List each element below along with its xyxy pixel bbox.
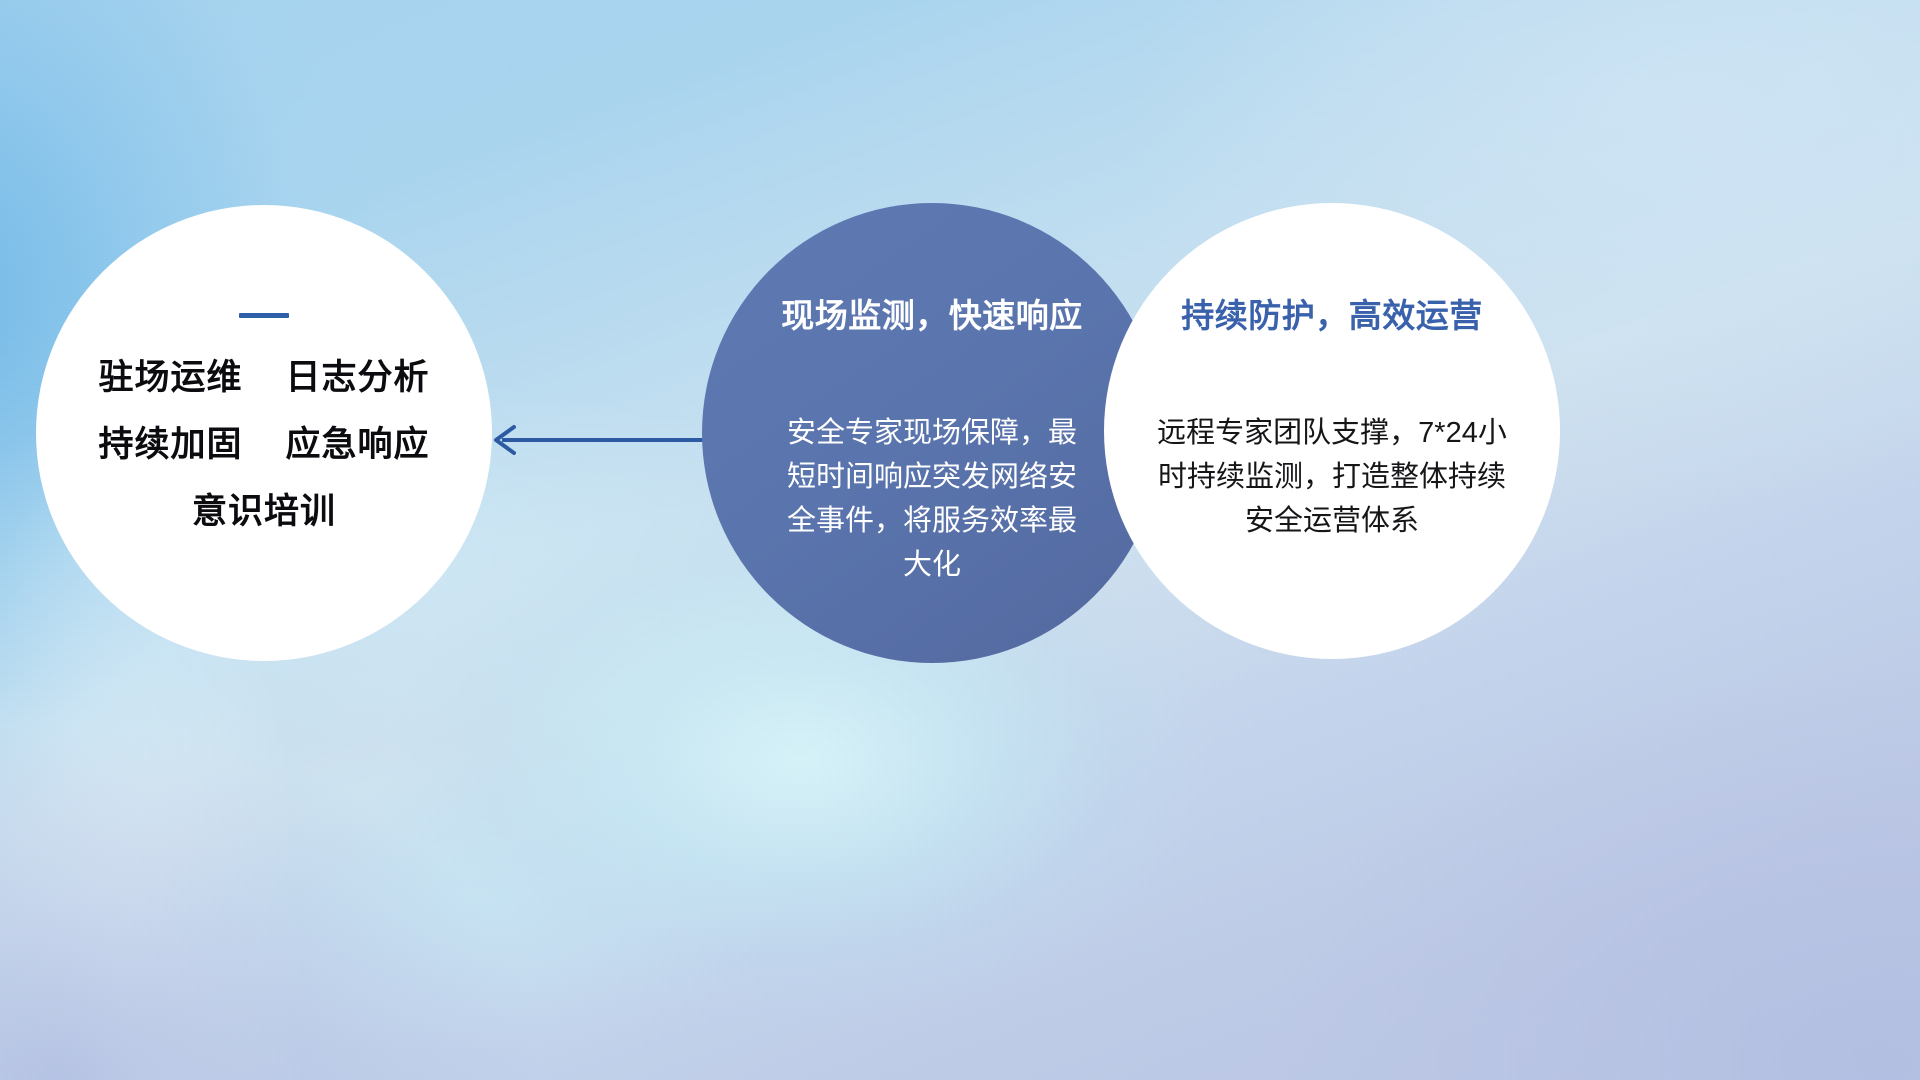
slide-canvas: 驻场运维 日志分析 持续加固 应急响应 意识培训 现场监测，快速响应 安全专家现… — [0, 0, 1920, 1080]
continuous-protection-body: 远程专家团队支撑，7*24小时持续监测，打造整体持续安全运营体系 — [1147, 411, 1517, 543]
continuous-protection-circle[interactable]: 持续防护，高效运营 远程专家团队支撑，7*24小时持续监测，打造整体持续安全运营… — [1104, 203, 1560, 659]
keyword-line-1: 驻场运维 日志分析 — [99, 360, 430, 395]
connector-arrow — [470, 415, 730, 465]
onsite-monitoring-title: 现场监测，快速响应 — [781, 289, 1083, 337]
capabilities-circle[interactable]: 驻场运维 日志分析 持续加固 应急响应 意识培训 — [36, 205, 492, 661]
keyword-line-3: 意识培训 — [192, 494, 336, 529]
left-arrow-icon — [470, 415, 730, 465]
accent-divider — [239, 313, 289, 318]
onsite-monitoring-body: 安全专家现场保障，最短时间响应突发网络安全事件，将服务效率最大化 — [782, 411, 1082, 587]
continuous-protection-title: 持续防护，高效运营 — [1181, 289, 1483, 337]
keyword-line-2: 持续加固 应急响应 — [99, 427, 430, 462]
onsite-monitoring-circle[interactable]: 现场监测，快速响应 安全专家现场保障，最短时间响应突发网络安全事件，将服务效率最… — [702, 203, 1162, 663]
